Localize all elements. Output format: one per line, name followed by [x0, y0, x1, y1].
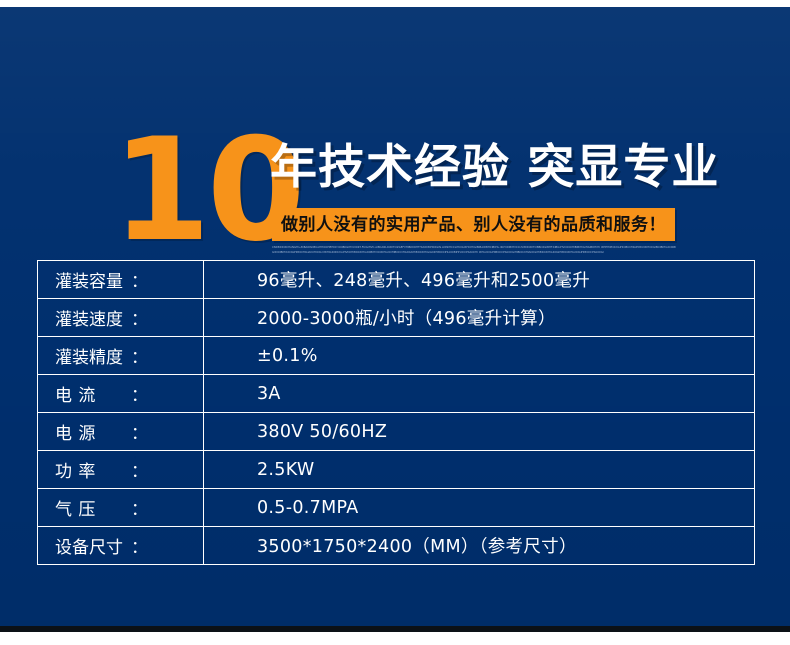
table-row: 功 率：2.5KW [38, 451, 755, 489]
spec-label-text: 灌装精度 [55, 343, 129, 368]
spec-value-cell: 3A [204, 375, 755, 413]
bottom-divider-rule [0, 626, 790, 632]
spec-value-cell: 2000-3000瓶/小时（496毫升计算） [204, 299, 755, 337]
spec-label-colon: ： [131, 348, 149, 368]
spec-label-text: 电 流 [55, 381, 129, 406]
spec-label-cell: 气 压： [38, 489, 204, 527]
table-row: 设备尺寸：3500*1750*2400（MM）（参考尺寸） [38, 527, 755, 565]
spec-label-colon: ： [131, 500, 149, 520]
table-row: 电 流：3A [38, 375, 755, 413]
spec-label-text: 灌装容量 [55, 267, 129, 292]
table-row: 灌装容量：96毫升、248毫升、496毫升和2500毫升 [38, 261, 755, 299]
spec-value-cell: 96毫升、248毫升、496毫升和2500毫升 [204, 261, 755, 299]
spec-label-text: 灌装速度 [55, 305, 129, 330]
spec-label-colon: ： [131, 386, 149, 406]
spec-label-text: 气 压 [55, 495, 129, 520]
tagline-text: 做别人没有的实用产品、别人没有的品质和服务！ [281, 215, 666, 235]
spec-value-cell: 380V 50/60HZ [204, 413, 755, 451]
table-row: 灌装速度：2000-3000瓶/小时（496毫升计算） [38, 299, 755, 337]
spec-label-cell: 功 率： [38, 451, 204, 489]
spec-label-text: 设备尺寸 [55, 533, 129, 558]
spec-label-colon: ： [131, 272, 149, 292]
spec-value-cell: 2.5KW [204, 451, 755, 489]
tagline-banner: 做别人没有的实用产品、别人没有的品质和服务！ [272, 208, 675, 241]
table-row: 气 压：0.5-0.7MPA [38, 489, 755, 527]
spec-label-text: 功 率 [55, 457, 129, 482]
header-section: 10 年技术经验 突显专业 做别人没有的实用产品、别人没有的品质和服务！ CND… [0, 60, 790, 220]
specification-table-body: 灌装容量：96毫升、248毫升、496毫升和2500毫升灌装速度：2000-30… [38, 261, 755, 565]
spec-label-cell: 电 流： [38, 375, 204, 413]
spec-label-cell: 灌装容量： [38, 261, 204, 299]
spec-value-cell: 0.5-0.7MPA [204, 489, 755, 527]
product-spec-banner: 10 年技术经验 突显专业 做别人没有的实用产品、别人没有的品质和服务！ CND… [0, 0, 790, 645]
spec-label-colon: ： [131, 462, 149, 482]
spec-label-colon: ： [131, 538, 149, 558]
headline-text: 年技术经验 突显专业 [270, 140, 719, 195]
spec-value-cell: ±0.1% [204, 337, 755, 375]
table-row: 电 源：380V 50/60HZ [38, 413, 755, 451]
spec-label-cell: 灌装速度： [38, 299, 204, 337]
spec-label-cell: 电 源： [38, 413, 204, 451]
top-margin-strip [0, 0, 790, 7]
spec-label-text: 电 源 [55, 419, 129, 444]
spec-label-cell: 灌装精度： [38, 337, 204, 375]
spec-label-cell: 设备尺寸： [38, 527, 204, 565]
spec-label-colon: ： [131, 424, 149, 444]
spec-value-cell: 3500*1750*2400（MM）（参考尺寸） [204, 527, 755, 565]
fineprint-text: CNDBDDIXCHANGHI+BIBAIPADBUAHHIOXHEHIOY.I… [272, 246, 676, 255]
specification-table: 灌装容量：96毫升、248毫升、496毫升和2500毫升灌装速度：2000-30… [37, 260, 755, 565]
table-row: 灌装精度：±0.1% [38, 337, 755, 375]
spec-label-colon: ： [131, 310, 149, 330]
